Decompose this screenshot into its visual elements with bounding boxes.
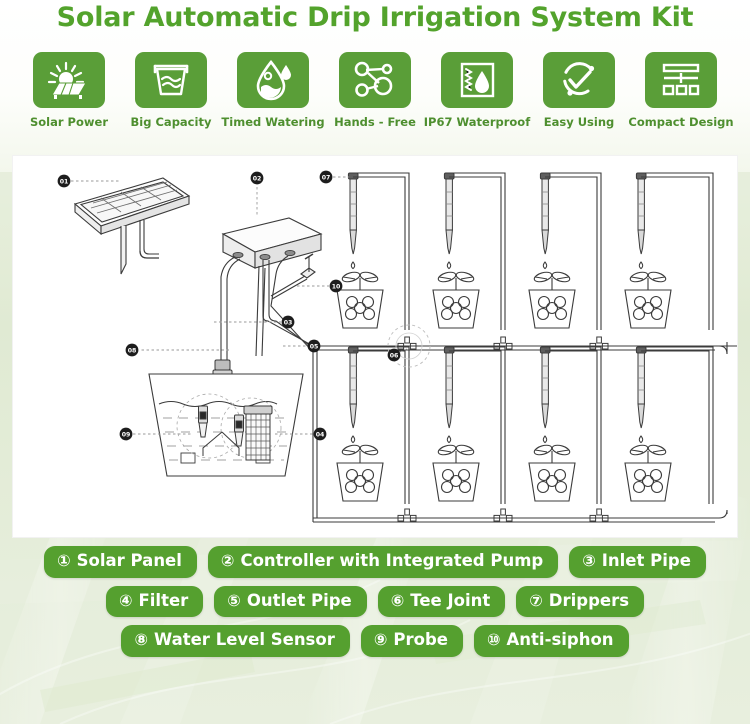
legend-label: Filter — [138, 593, 188, 610]
legend-item-solar-panel[interactable]: ① Solar Panel — [44, 546, 197, 578]
feature-tile — [645, 52, 717, 108]
legend-item-anti-siphon[interactable]: ⑩ Anti-siphon — [474, 625, 629, 657]
legend-label: Controller with Integrated Pump — [240, 553, 543, 570]
legend-list: ① Solar Panel ② Controller with Integrat… — [0, 546, 750, 657]
feature-compact-design: Compact Design — [640, 52, 722, 129]
callout-06: 06 — [388, 349, 401, 362]
svg-text:03: 03 — [284, 319, 293, 326]
feature-ip67-waterproof: IP67 Waterproof — [436, 52, 518, 129]
feature-tile — [237, 52, 309, 108]
feature-label: Hands - Free — [334, 115, 416, 129]
legend-label: Tee Joint — [410, 593, 490, 610]
legend-number: ④ — [119, 593, 133, 609]
waterproof-droplet-icon — [457, 60, 497, 100]
feature-tile — [33, 52, 105, 108]
diagram-panel: 01 02 03 04 05 06 07 08 09 10 — [13, 156, 737, 537]
feature-tile — [135, 52, 207, 108]
legend-label: Anti-siphon — [507, 632, 614, 649]
feature-tile — [543, 52, 615, 108]
network-nodes-icon — [353, 60, 397, 100]
callout-04: 04 — [314, 428, 327, 441]
feature-strip: Solar Power Big Capacity Timed Watering — [0, 52, 750, 144]
irrigation-system-diagram: 01 02 03 04 05 06 07 08 09 10 — [13, 156, 737, 537]
legend-item-inlet-pipe[interactable]: ③ Inlet Pipe — [569, 546, 706, 578]
legend-label: Outlet Pipe — [247, 593, 352, 610]
svg-text:06: 06 — [390, 352, 399, 359]
feature-label: IP67 Waterproof — [424, 115, 530, 129]
svg-text:02: 02 — [253, 175, 262, 182]
legend-number: ⑥ — [391, 593, 405, 609]
callout-10: 10 — [330, 280, 343, 293]
legend-number: ⑧ — [134, 632, 148, 648]
legend-item-controller[interactable]: ② Controller with Integrated Pump — [208, 546, 558, 578]
feature-hands-free: Hands - Free — [334, 52, 416, 129]
feature-timed-watering: Timed Watering — [232, 52, 314, 129]
feature-easy-using: Easy Using — [538, 52, 620, 129]
callout-01: 01 — [58, 175, 71, 188]
feature-label: Solar Power — [30, 115, 108, 129]
svg-text:09: 09 — [122, 431, 131, 438]
feature-big-capacity: Big Capacity — [130, 52, 212, 129]
feature-tile — [441, 52, 513, 108]
legend-number: ⑤ — [227, 593, 241, 609]
legend-label: Probe — [393, 632, 448, 649]
legend-row: ④ Filter ⑤ Outlet Pipe ⑥ Tee Joint ⑦ Dri… — [106, 586, 644, 618]
svg-text:07: 07 — [322, 174, 331, 181]
callout-09: 09 — [120, 428, 133, 441]
callout-03: 03 — [282, 316, 295, 329]
filter-graphic — [244, 406, 272, 460]
water-droplet-timer-icon — [253, 59, 293, 101]
check-cycle-icon — [558, 59, 600, 101]
legend-item-probe[interactable]: ⑨ Probe — [361, 625, 463, 657]
legend-item-drippers[interactable]: ⑦ Drippers — [516, 586, 644, 618]
water-bucket-graphic — [149, 374, 303, 476]
feature-label: Timed Watering — [221, 115, 324, 129]
svg-text:10: 10 — [332, 283, 341, 290]
legend-number: ⑨ — [374, 632, 388, 648]
legend-item-tee-joint[interactable]: ⑥ Tee Joint — [378, 586, 506, 618]
legend-number: ③ — [582, 553, 596, 569]
callout-08: 08 — [126, 344, 139, 357]
svg-text:01: 01 — [60, 178, 69, 185]
feature-label: Easy Using — [544, 115, 615, 129]
legend-number: ① — [57, 553, 71, 569]
legend-label: Drippers — [549, 593, 629, 610]
legend-item-filter[interactable]: ④ Filter — [106, 586, 203, 618]
legend-label: Solar Panel — [77, 553, 182, 570]
legend-label: Inlet Pipe — [602, 553, 691, 570]
svg-text:05: 05 — [310, 343, 319, 350]
svg-text:04: 04 — [316, 431, 325, 438]
page-title: Solar Automatic Drip Irrigation System K… — [0, 2, 750, 40]
legend-item-outlet-pipe[interactable]: ⑤ Outlet Pipe — [214, 586, 366, 618]
feature-solar-power: Solar Power — [28, 52, 110, 129]
feature-label: Big Capacity — [131, 115, 212, 129]
legend-number: ⑦ — [529, 593, 543, 609]
feature-tile — [339, 52, 411, 108]
callout-02: 02 — [251, 172, 264, 185]
compact-layout-icon — [659, 61, 703, 99]
callout-05: 05 — [308, 340, 321, 353]
legend-row: ⑧ Water Level Sensor ⑨ Probe ⑩ Anti-siph… — [121, 625, 628, 657]
callout-07: 07 — [320, 171, 333, 184]
feature-label: Compact Design — [628, 115, 733, 129]
legend-label: Water Level Sensor — [154, 632, 335, 649]
solar-panel-sun-icon — [46, 61, 92, 99]
legend-row: ① Solar Panel ② Controller with Integrat… — [44, 546, 706, 578]
legend-number: ② — [221, 553, 235, 569]
legend-number: ⑩ — [487, 632, 501, 648]
legend-item-water-level-sensor[interactable]: ⑧ Water Level Sensor — [121, 625, 349, 657]
svg-text:08: 08 — [128, 347, 137, 354]
water-glass-icon — [150, 61, 192, 99]
